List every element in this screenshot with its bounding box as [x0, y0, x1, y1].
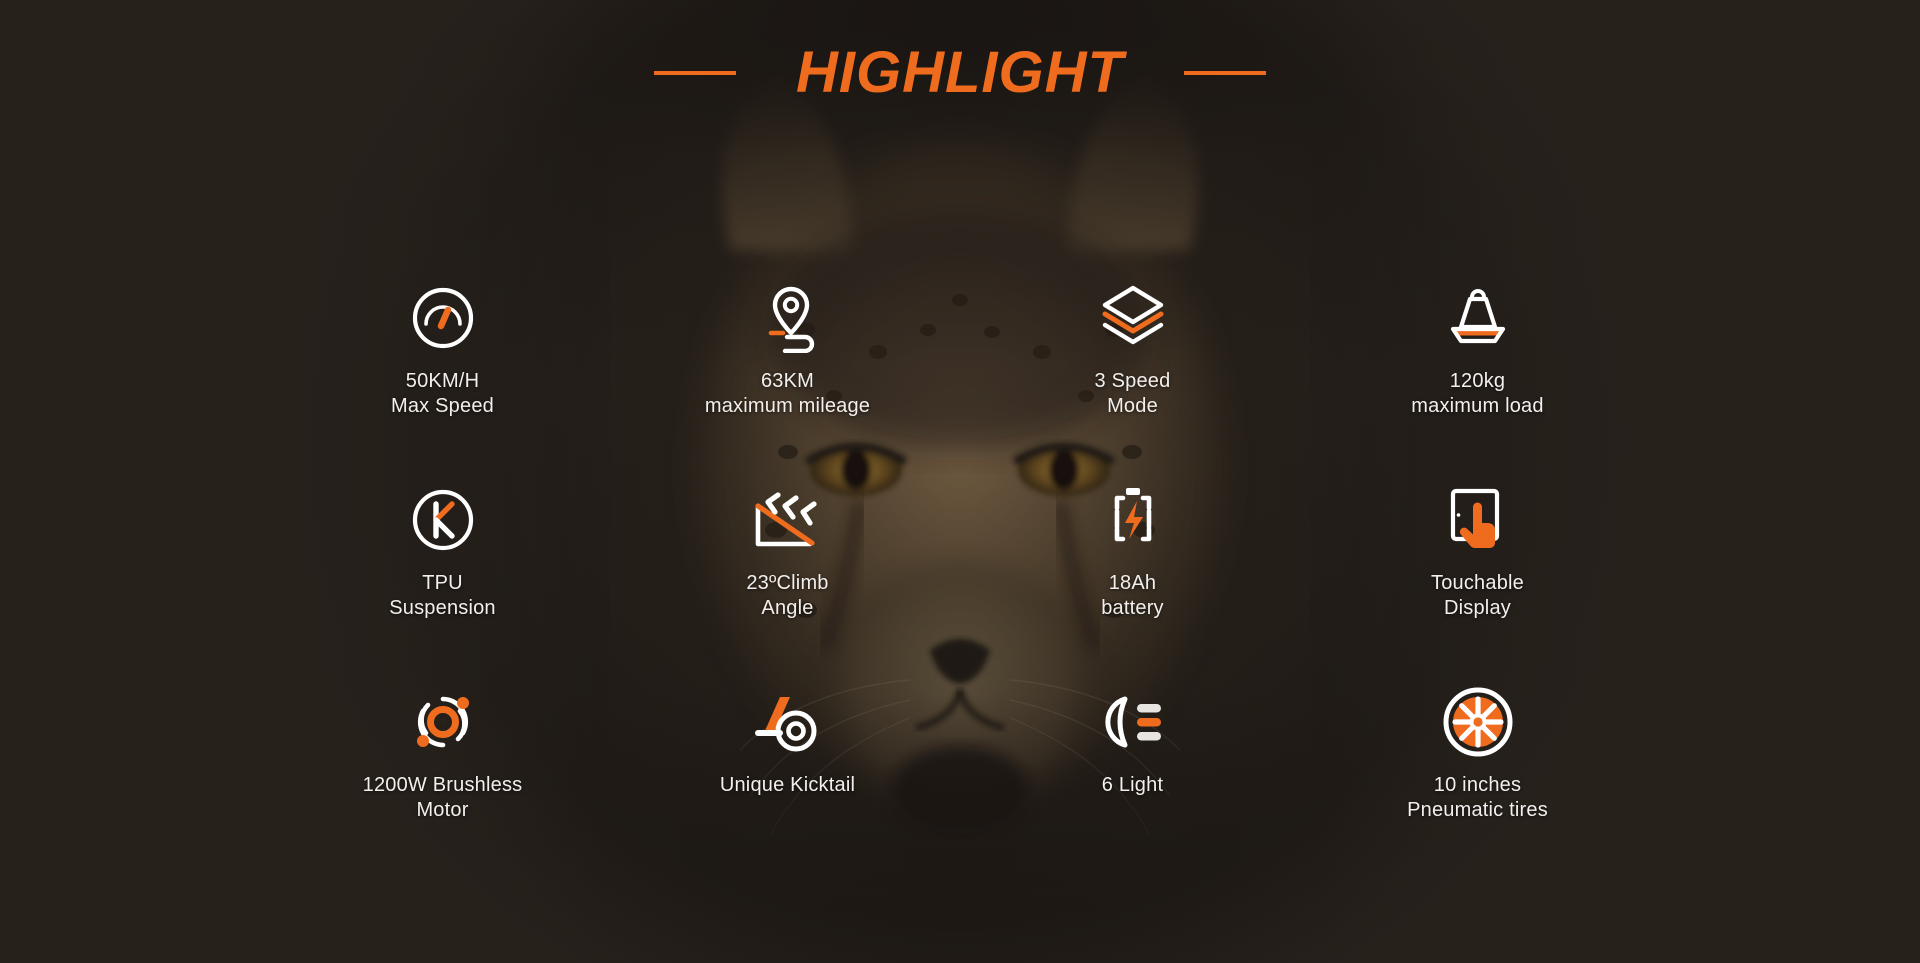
feature-line-2: Mode — [1095, 395, 1171, 417]
climb-slope-icon — [748, 482, 828, 558]
page-title: HIGHLIGHT — [796, 44, 1124, 102]
feature-line-2: Display — [1431, 597, 1524, 619]
feature-label: 23ºClimb Angle — [746, 572, 828, 620]
feature-line-2: Angle — [746, 597, 828, 619]
feature-label: 50KM/H Max Speed — [391, 370, 494, 418]
feature-label: TPU Suspension — [389, 572, 496, 620]
feature-line-1: 63KM — [761, 370, 814, 392]
feature-item-motor: 1200W Brushless Motor — [270, 684, 615, 886]
feature-line-2: Pneumatic tires — [1407, 799, 1548, 821]
feature-line-2: maximum load — [1411, 395, 1543, 417]
feature-line-2: battery — [1101, 597, 1164, 619]
feature-item-kicktail: Unique Kicktail — [615, 684, 960, 886]
feature-label: 3 Speed Mode — [1095, 370, 1171, 418]
speedometer-icon — [410, 280, 476, 356]
feature-label: 6 Light — [1102, 774, 1163, 799]
feature-line-1: Unique Kicktail — [720, 774, 855, 796]
feature-label: 63KM maximum mileage — [705, 370, 870, 418]
feature-line-2: Motor — [363, 799, 523, 821]
feature-item-speed-mode: 3 Speed Mode — [960, 280, 1305, 482]
feature-label: 10 inches Pneumatic tires — [1407, 774, 1548, 822]
feature-label: 120kg maximum load — [1411, 370, 1543, 418]
feature-line-2: Max Speed — [391, 395, 494, 417]
stacked-layers-icon — [1097, 280, 1169, 356]
motor-orbit-icon — [408, 684, 478, 760]
feature-line-1: 1200W Brushless — [363, 774, 523, 796]
battery-bolt-icon — [1105, 482, 1161, 558]
headlight-icon — [1097, 684, 1169, 760]
k-circle-icon — [410, 482, 476, 558]
feature-item-climb-angle: 23ºClimb Angle — [615, 482, 960, 684]
feature-label: 18Ah battery — [1101, 572, 1164, 620]
feature-line-2: maximum mileage — [705, 395, 870, 417]
feature-item-tires: 10 inches Pneumatic tires — [1305, 684, 1650, 886]
feature-item-tpu-suspension: TPU Suspension — [270, 482, 615, 684]
feature-line-1: TPU — [422, 572, 463, 594]
feature-line-1: 18Ah — [1109, 572, 1157, 594]
feature-line-1: 6 Light — [1102, 774, 1163, 796]
kicktail-icon — [750, 684, 826, 760]
feature-line-1: 50KM/H — [406, 370, 479, 392]
feature-line-1: Touchable — [1431, 572, 1524, 594]
title-rule-left-icon — [654, 71, 736, 75]
feature-item-max-speed: 50KM/H Max Speed — [270, 280, 615, 482]
feature-label: 1200W Brushless Motor — [363, 774, 523, 822]
feature-item-lights: 6 Light — [960, 684, 1305, 886]
map-pin-route-icon — [751, 280, 825, 356]
feature-label: Touchable Display — [1431, 572, 1524, 620]
feature-line-1: 23ºClimb — [746, 572, 828, 594]
weight-scale-icon — [1442, 280, 1514, 356]
wheel-spokes-icon — [1443, 684, 1513, 760]
feature-label: Unique Kicktail — [720, 774, 855, 799]
feature-item-battery: 18Ah battery — [960, 482, 1305, 684]
feature-line-1: 120kg — [1450, 370, 1506, 392]
feature-item-max-mileage: 63KM maximum mileage — [615, 280, 960, 482]
feature-line-2: Suspension — [389, 597, 496, 619]
title-rule-right-icon — [1184, 71, 1266, 75]
section-title-row: HIGHLIGHT — [0, 44, 1920, 102]
highlight-banner: HIGHLIGHT 50KM/H Max Speed — [0, 0, 1920, 963]
feature-line-1: 10 inches — [1434, 774, 1521, 796]
feature-grid: 50KM/H Max Speed 63KM maximum mileage — [270, 280, 1650, 886]
touchscreen-hand-icon — [1443, 482, 1513, 558]
feature-line-1: 3 Speed — [1095, 370, 1171, 392]
feature-item-touchable-display: Touchable Display — [1305, 482, 1650, 684]
feature-item-max-load: 120kg maximum load — [1305, 280, 1650, 482]
